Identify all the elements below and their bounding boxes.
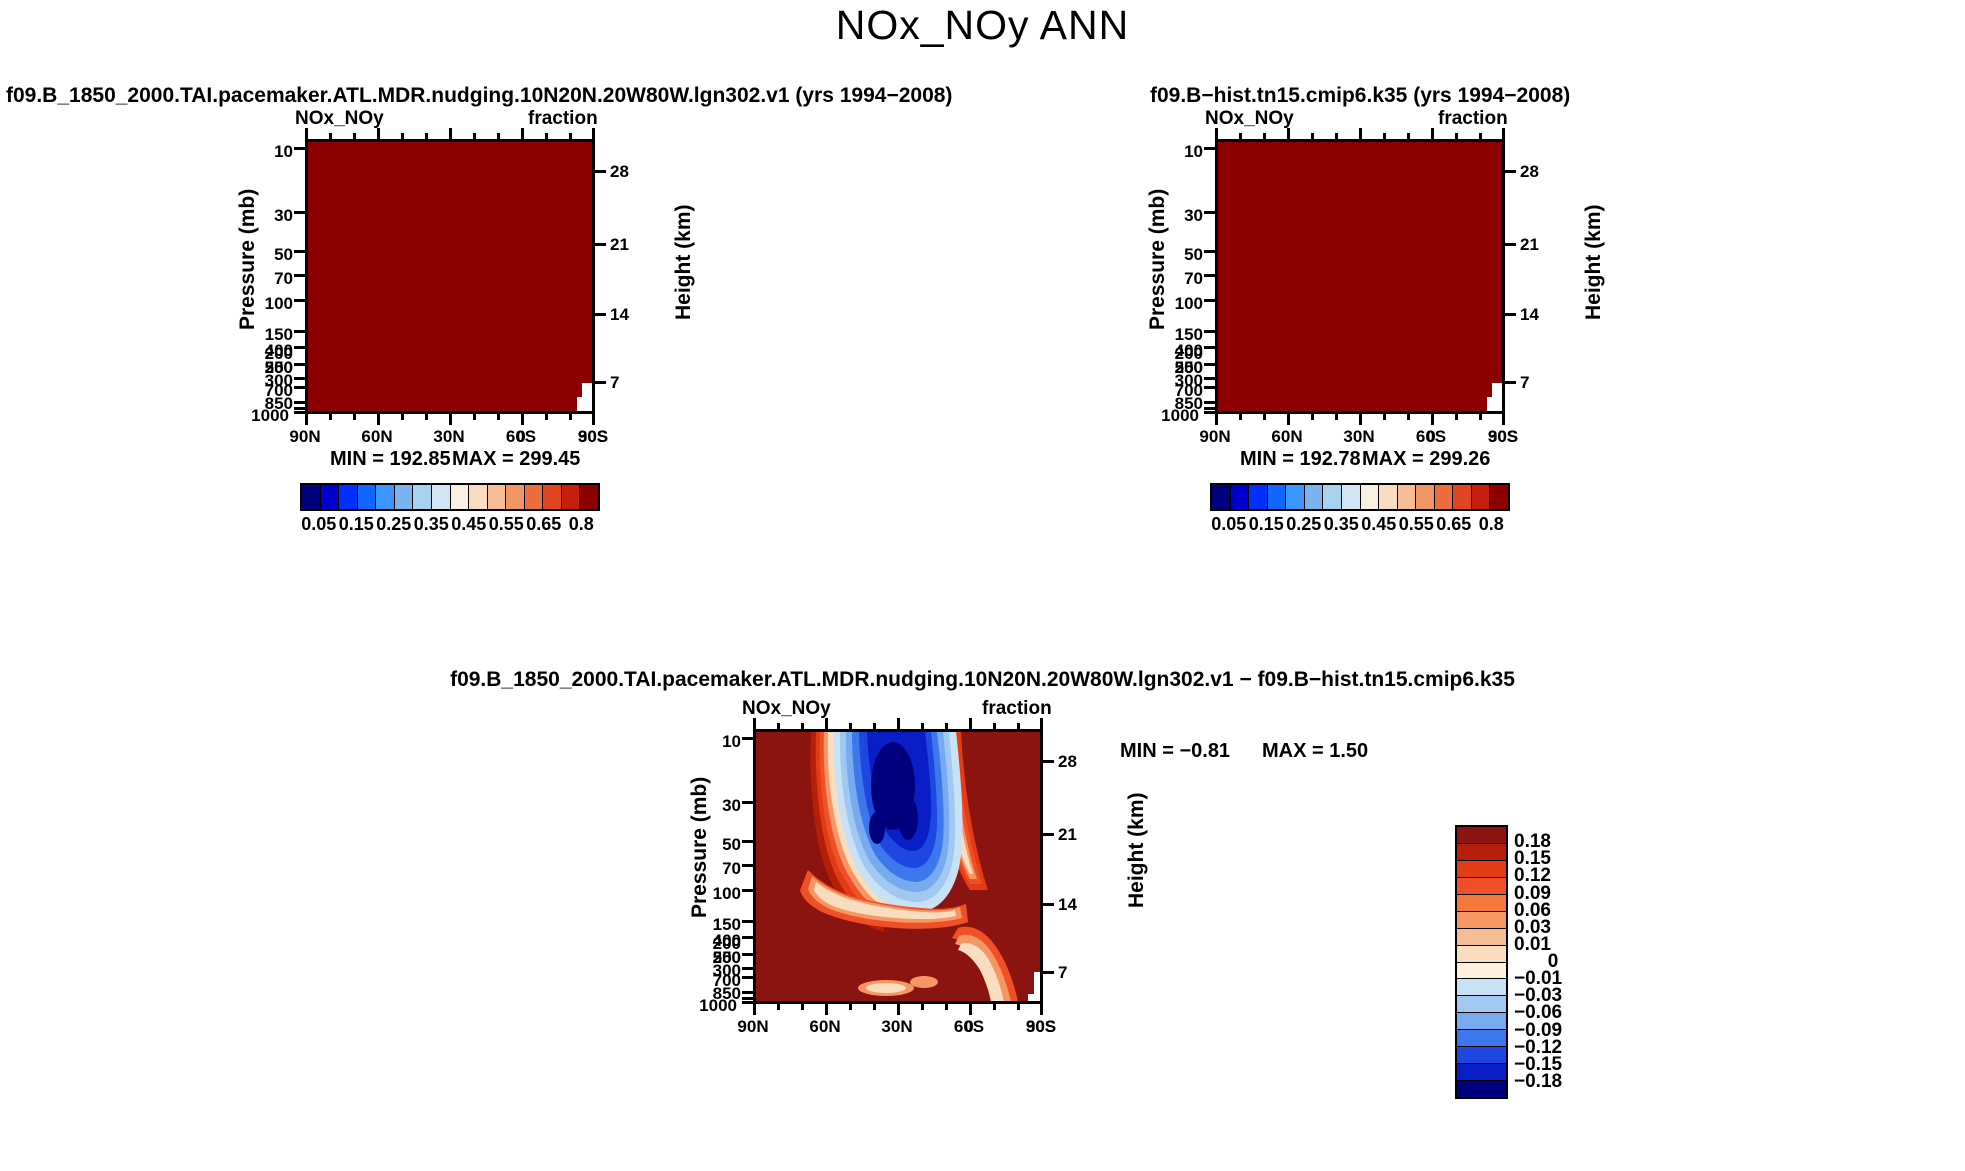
- colorbar-swatch: [1453, 485, 1472, 509]
- top-left-y2label: Height (km): [672, 205, 696, 321]
- difference-unit-label: fraction: [982, 698, 1052, 720]
- top-right-pressure-ticks: [1204, 139, 1215, 415]
- difference-top-ticks: [753, 718, 1043, 729]
- height-tick-label: 7: [1058, 963, 1067, 983]
- page-title: NOx_NOy ANN: [0, 2, 1965, 49]
- height-tick-label: 28: [1058, 752, 1077, 772]
- pressure-tick-label: 1000: [251, 406, 289, 426]
- colorbar-swatch: [1457, 878, 1506, 895]
- colorbar-swatch: [1472, 485, 1491, 509]
- lat-tick-label: 60S: [944, 1017, 994, 1037]
- colorbar-swatch: [1490, 485, 1508, 509]
- lat-tick-label: 90S: [1478, 427, 1528, 447]
- colorbar-swatch: [1398, 485, 1417, 509]
- top-left-min-label: MIN = 192.85: [330, 448, 451, 471]
- colorbar-swatch: [562, 485, 581, 509]
- colorbar-swatch: [1457, 1081, 1506, 1097]
- top-left-bottom-ticks: [305, 414, 595, 425]
- colorbar-swatch: [432, 485, 451, 509]
- colorbar-swatch: [1305, 485, 1324, 509]
- colorbar-tick-label: 0.8: [1461, 514, 1521, 535]
- difference-colorbar-labels: 0.180.150.120.090.060.030.010−0.01−0.03−…: [1514, 825, 1604, 1099]
- top-right-colorbar-labels: 0.050.150.250.350.450.550.650.8: [1210, 514, 1510, 536]
- top-right-height-axis: 28 21 14 7: [1505, 139, 1565, 415]
- colorbar-swatch: [580, 485, 598, 509]
- top-right-plot-area: [1215, 139, 1505, 414]
- top-left-colorbar-labels: 0.050.150.250.350.450.550.650.8: [300, 514, 600, 536]
- top-right-panel-header: f09.B−hist.tn15.cmip6.k35 (yrs 1994−2008…: [1150, 84, 1570, 108]
- top-left-top-ticks: [305, 128, 595, 139]
- lat-tick-label: 60S: [496, 427, 546, 447]
- height-tick-label: 21: [610, 235, 629, 255]
- colorbar-swatch: [469, 485, 488, 509]
- height-tick-label: 7: [1520, 373, 1529, 393]
- top-left-pressure-ticks: [294, 139, 305, 415]
- top-left-panel-header: f09.B_1850_2000.TAI.pacemaker.ATL.MDR.nu…: [6, 84, 952, 108]
- top-right-variable-label: NOx_NOy: [1205, 108, 1294, 130]
- difference-variable-label: NOx_NOy: [742, 698, 831, 720]
- colorbar-swatch: [451, 485, 470, 509]
- top-left-colorbar: [300, 483, 600, 511]
- top-right-top-ticks: [1215, 128, 1505, 139]
- colorbar-swatch: [1268, 485, 1287, 509]
- difference-height-axis: 28 21 14 7: [1043, 729, 1103, 1005]
- top-left-variable-label: NOx_NOy: [295, 108, 384, 130]
- colorbar-swatch: [1457, 996, 1506, 1013]
- difference-plot-area: [753, 729, 1043, 1004]
- pressure-tick-label: 500: [265, 358, 293, 378]
- colorbar-swatch: [1457, 946, 1506, 963]
- colorbar-swatch: [358, 485, 377, 509]
- colorbar-swatch: [1361, 485, 1380, 509]
- difference-panel-header: f09.B_1850_2000.TAI.pacemaker.ATL.MDR.nu…: [0, 668, 1965, 692]
- colorbar-swatch: [506, 485, 525, 509]
- difference-bottom-ticks: [753, 1004, 1043, 1015]
- colorbar-swatch: [525, 485, 544, 509]
- colorbar-swatch: [1457, 963, 1506, 980]
- difference-latitude-axis-2: 60S 90S: [753, 1017, 1093, 1039]
- colorbar-swatch: [1212, 485, 1231, 509]
- colorbar-swatch: [1457, 895, 1506, 912]
- colorbar-swatch: [1457, 844, 1506, 861]
- colorbar-tick-label: −0.18: [1514, 1071, 1592, 1093]
- top-left-height-axis: 28 21 14 7: [595, 139, 655, 415]
- top-right-bottom-ticks: [1215, 414, 1505, 425]
- difference-pressure-ticks: [742, 729, 753, 1005]
- top-right-max-label: MAX = 299.26: [1362, 448, 1490, 471]
- height-tick-label: 14: [1058, 895, 1077, 915]
- colorbar-tick-label: 0.8: [551, 514, 611, 535]
- height-tick-label: 14: [1520, 305, 1539, 325]
- colorbar-swatch: [1457, 827, 1506, 844]
- top-right-unit-label: fraction: [1438, 108, 1508, 130]
- colorbar-swatch: [1457, 1064, 1506, 1081]
- lat-tick-label: 60S: [1406, 427, 1456, 447]
- colorbar-swatch: [1457, 929, 1506, 946]
- colorbar-swatch: [302, 485, 321, 509]
- height-tick-label: 21: [1520, 235, 1539, 255]
- colorbar-swatch: [1286, 485, 1305, 509]
- colorbar-swatch: [1342, 485, 1361, 509]
- colorbar-swatch: [1457, 979, 1506, 996]
- difference-y2label: Height (km): [1125, 793, 1149, 909]
- colorbar-swatch: [1457, 1013, 1506, 1030]
- top-right-colorbar: [1210, 483, 1510, 511]
- colorbar-swatch: [376, 485, 395, 509]
- top-right-y2label: Height (km): [1582, 205, 1606, 321]
- height-tick-label: 28: [610, 162, 629, 182]
- difference-min-label: MIN = −0.81: [1120, 740, 1230, 763]
- colorbar-swatch: [488, 485, 507, 509]
- colorbar-swatch: [321, 485, 340, 509]
- colorbar-swatch: [1249, 485, 1268, 509]
- lat-tick-label: 90S: [1016, 1017, 1066, 1037]
- difference-colorbar: [1455, 825, 1508, 1099]
- top-left-max-label: MAX = 299.45: [452, 448, 580, 471]
- height-tick-label: 14: [610, 305, 629, 325]
- height-tick-label: 7: [610, 373, 619, 393]
- colorbar-swatch: [1457, 1030, 1506, 1047]
- top-right-min-label: MIN = 192.78: [1240, 448, 1361, 471]
- colorbar-swatch: [339, 485, 358, 509]
- colorbar-swatch: [1457, 912, 1506, 929]
- pressure-tick-label: 1000: [699, 996, 737, 1016]
- colorbar-swatch: [1435, 485, 1454, 509]
- pressure-tick-label: 500: [713, 948, 741, 968]
- colorbar-swatch: [1323, 485, 1342, 509]
- colorbar-swatch: [1457, 1047, 1506, 1064]
- colorbar-swatch: [1457, 861, 1506, 878]
- top-left-latitude-axis-2: 60S 90S: [305, 427, 645, 449]
- lat-tick-label: 90S: [568, 427, 618, 447]
- colorbar-swatch: [1231, 485, 1250, 509]
- colorbar-swatch: [413, 485, 432, 509]
- pressure-tick-label: 1000: [1161, 406, 1199, 426]
- colorbar-swatch: [543, 485, 562, 509]
- colorbar-swatch: [1379, 485, 1398, 509]
- top-left-unit-label: fraction: [528, 108, 598, 130]
- height-tick-label: 21: [1058, 825, 1077, 845]
- colorbar-swatch: [395, 485, 414, 509]
- colorbar-swatch: [1416, 485, 1435, 509]
- difference-max-label: MAX = 1.50: [1262, 740, 1368, 763]
- top-right-latitude-axis-2: 60S 90S: [1215, 427, 1555, 449]
- height-tick-label: 28: [1520, 162, 1539, 182]
- top-left-plot-area: [305, 139, 595, 414]
- pressure-tick-label: 500: [1175, 358, 1203, 378]
